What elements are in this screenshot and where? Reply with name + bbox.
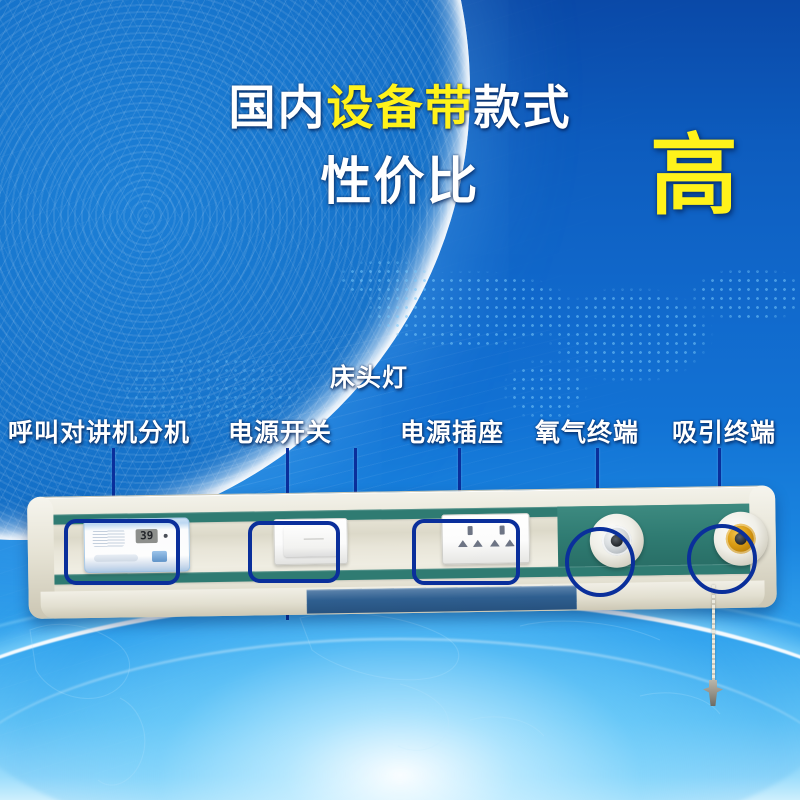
headline-white-b: 款式	[474, 81, 572, 134]
highlight-circle-suction	[687, 524, 757, 594]
highlight-box-outlet	[412, 519, 520, 585]
highlight-box-intercom	[64, 519, 180, 585]
headline-white-a: 国内	[229, 81, 327, 134]
highlight-box-switch	[248, 521, 340, 583]
headline-emphasis-word: 高	[650, 132, 738, 220]
continent-outlines	[0, 600, 800, 800]
headline-yellow: 设备带	[327, 81, 474, 134]
callout-label-intercom: 呼叫对讲机分机	[8, 413, 190, 449]
callout-label-bedlamp: 床头灯	[330, 358, 408, 394]
callout-label-switch: 电源开关	[228, 413, 332, 449]
callout-label-suction: 吸引终端	[672, 413, 776, 449]
dotted-world-map	[330, 240, 800, 440]
pull-cord[interactable]	[712, 585, 715, 685]
highlight-circle-oxygen	[565, 527, 635, 597]
callout-label-oxygen: 氧气终端	[535, 413, 639, 449]
panel-rail-blue-insert	[307, 585, 577, 613]
callout-label-outlet: 电源插座	[400, 413, 504, 449]
product-banner: 国内设备带款式 性价比 高 呼叫对讲机分机 电源开关 床头灯 电源插座 氧气终端…	[0, 0, 800, 800]
